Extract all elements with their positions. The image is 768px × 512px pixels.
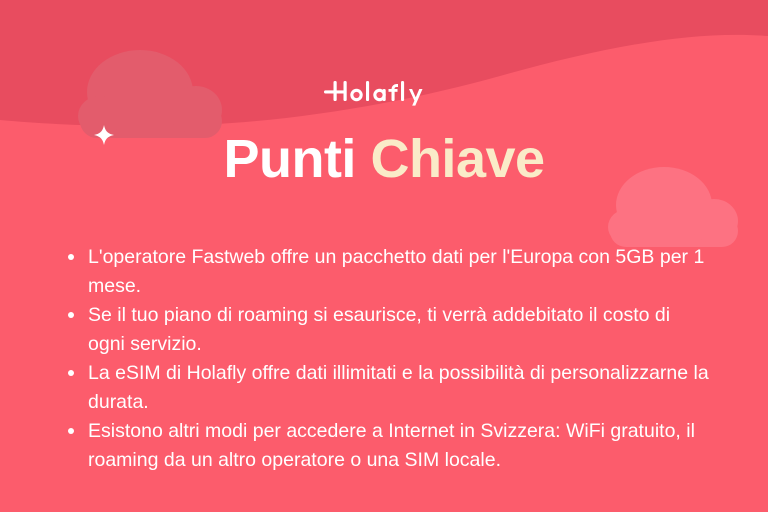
list-item: L'operatore Fastweb offre un pacchetto d… (62, 243, 712, 300)
bullet-dot-icon (68, 254, 74, 260)
list-item-text: L'operatore Fastweb offre un pacchetto d… (88, 246, 704, 297)
title-part-primary: Punti (223, 129, 355, 189)
bullet-dot-icon (68, 312, 74, 318)
key-points-card: Punti Chiave L'operatore Fastweb offre u… (0, 0, 768, 512)
page-title: Punti Chiave (0, 128, 768, 190)
holafly-wordmark-icon (324, 78, 444, 108)
list-item-text: La eSIM di Holafly offre dati illimitati… (88, 362, 709, 413)
list-item: Esistono altri modi per accedere a Inter… (62, 417, 712, 474)
bullet-dot-icon (68, 370, 74, 376)
list-item-text: Se il tuo piano di roaming si esaurisce,… (88, 304, 670, 355)
list-item-text: Esistono altri modi per accedere a Inter… (88, 420, 695, 471)
holafly-logo (0, 78, 768, 108)
title-part-accent: Chiave (370, 129, 544, 189)
list-item: La eSIM di Holafly offre dati illimitati… (62, 359, 712, 416)
bullet-dot-icon (68, 428, 74, 434)
list-item: Se il tuo piano di roaming si esaurisce,… (62, 301, 712, 358)
key-points-list: L'operatore Fastweb offre un pacchetto d… (62, 243, 712, 475)
